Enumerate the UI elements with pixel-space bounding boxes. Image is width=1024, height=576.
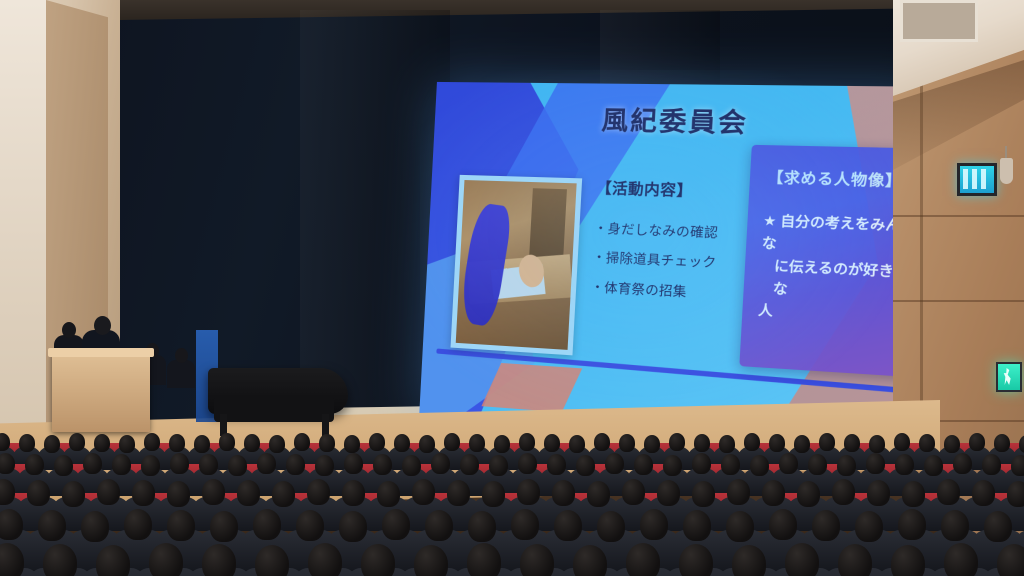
audience-member-head <box>469 434 485 452</box>
seated-person <box>167 360 195 388</box>
audience-member-head <box>419 435 435 453</box>
audience-member-head <box>219 433 235 451</box>
audience-member-head <box>969 433 985 451</box>
audience-member-head <box>467 543 501 576</box>
audience-member-head <box>369 433 385 451</box>
audience-member-head <box>919 434 935 452</box>
audience-member-head <box>812 510 840 541</box>
speaker-head <box>94 316 111 335</box>
persona-line: ★ 自分の考えをみんな <box>761 209 907 260</box>
audience-member-head <box>994 434 1010 452</box>
audience-member-head <box>832 479 855 505</box>
audience-member-head <box>594 433 610 451</box>
audience-member-head <box>482 481 505 507</box>
audience-member-head <box>576 455 595 476</box>
audience-member-head <box>808 454 827 475</box>
audience-member-head <box>141 455 160 476</box>
audience-member-head <box>444 433 460 451</box>
audience-member-head <box>319 434 335 452</box>
audience-member-head <box>0 453 15 474</box>
wall-seam <box>893 215 1024 217</box>
audience-member-head <box>19 434 35 452</box>
seated-person-head <box>175 348 188 363</box>
audience-member-head <box>794 435 810 453</box>
audience-member-head <box>869 435 885 453</box>
audience-member-head <box>447 480 470 506</box>
projection-screen: 風紀委員会 【活動内容】 ・身だしなみの確認 ・掃除道具チェック ・体育祭の招集… <box>419 82 939 457</box>
audience-member-head <box>797 481 820 507</box>
exit-sign-glyph <box>963 169 968 189</box>
audience-member-head <box>721 454 740 475</box>
slide-photo-frame <box>451 175 583 356</box>
audience-member-head <box>315 455 334 476</box>
audience-member-head <box>44 435 60 453</box>
audience-member-head <box>169 434 185 452</box>
exit-sign-glyph <box>972 169 977 189</box>
audience-member-head <box>573 545 607 576</box>
audience-member-head <box>0 509 23 540</box>
audience-member-head <box>953 453 972 474</box>
audience-member-head <box>844 434 860 452</box>
audience-member-head <box>344 435 360 453</box>
audience-member-head <box>838 544 872 576</box>
audience-member-head <box>867 480 890 506</box>
audience-member-head <box>982 454 1001 475</box>
audience-member-head <box>494 435 510 453</box>
audience-member-head <box>202 544 236 576</box>
audience-member-head <box>944 543 978 576</box>
audience-member-head <box>344 453 363 474</box>
audience-member-head <box>762 480 785 506</box>
audience-member-head <box>683 510 711 541</box>
wall-seam <box>893 300 1024 302</box>
audience-member-head <box>819 433 835 451</box>
audience-member-head <box>342 480 365 506</box>
audience-member-head <box>414 545 448 576</box>
audience-member-head <box>663 455 682 476</box>
audience-member-head <box>554 510 582 541</box>
audience-member-head <box>769 509 797 540</box>
audience-member-head <box>511 509 539 540</box>
audience-member-head <box>552 480 575 506</box>
audience-member-head <box>38 510 66 541</box>
audience-member-head <box>984 511 1012 542</box>
audience-member-head <box>924 455 943 476</box>
audience-member-head <box>866 453 885 474</box>
audience-member-head <box>83 453 102 474</box>
audience-member-head <box>837 455 856 476</box>
audience-member-head <box>489 455 508 476</box>
grand-piano-body <box>214 396 334 422</box>
audience-member-head <box>119 435 135 453</box>
audience-member-head <box>518 453 537 474</box>
activity-heading: 【活動内容】 <box>596 177 740 203</box>
audience-member-head <box>307 479 330 505</box>
audience-member-head <box>132 480 155 506</box>
audience-member-head <box>941 510 969 541</box>
seated-person-head <box>62 322 76 338</box>
audience-member-head <box>634 454 653 475</box>
left-wall-trim <box>0 0 46 430</box>
audience-member-head <box>669 433 685 451</box>
audience-member-head <box>732 545 766 576</box>
audience-member-head <box>425 510 453 541</box>
audience-member-head <box>373 454 392 475</box>
audience-member-head <box>657 480 680 506</box>
audience-member-head <box>43 544 77 576</box>
audience-member-head <box>294 433 310 451</box>
audience-member-head <box>679 544 713 576</box>
audience-member-head <box>199 454 218 475</box>
activity-bullet: ・掃除道具チェック <box>592 248 736 275</box>
audience-member-head <box>25 454 44 475</box>
audience-member-head <box>167 481 190 507</box>
audience-member-head <box>94 434 110 452</box>
audience-member-head <box>895 454 914 475</box>
auditorium-photo: 風紀委員会 【活動内容】 ・身だしなみの確認 ・掃除道具チェック ・体育祭の招集… <box>0 0 1024 576</box>
wall-window-frame <box>900 0 978 42</box>
audience-member-head <box>894 433 910 451</box>
audience-member-head <box>339 511 367 542</box>
audience-member-head <box>1007 481 1024 507</box>
audience-member-head <box>997 544 1024 576</box>
audience-member-head <box>210 511 238 542</box>
audience-member-head <box>468 511 496 542</box>
audience-member-head <box>517 479 540 505</box>
audience-member-head <box>97 479 120 505</box>
audience-member-head <box>972 480 995 506</box>
audience-member-head <box>377 481 400 507</box>
audience-member-head <box>644 435 660 453</box>
audience-member-head <box>361 544 395 576</box>
audience-member-head <box>785 543 819 576</box>
audience-member-head <box>626 543 660 576</box>
audience-member-head <box>112 454 131 475</box>
audience-member-head <box>167 510 195 541</box>
activity-bullet: ・身だしなみの確認 <box>594 219 738 245</box>
audience-member-head <box>431 453 450 474</box>
audience-member-head <box>81 511 109 542</box>
audience-member-head <box>308 543 342 576</box>
audience-member-head <box>727 479 750 505</box>
audience-member-head <box>726 511 754 542</box>
audience-member-head <box>272 481 295 507</box>
audience-member-head <box>144 433 160 451</box>
audience-member-head <box>750 455 769 476</box>
audience-member-head <box>255 545 289 576</box>
audience-member-head <box>640 509 668 540</box>
podium <box>52 352 150 432</box>
audience-member-head <box>269 435 285 453</box>
audience-member-head <box>62 481 85 507</box>
audience-member-head <box>202 479 225 505</box>
audience-member-head <box>547 454 566 475</box>
audience-member-head <box>460 454 479 475</box>
audience-member-head <box>228 455 247 476</box>
audience-member-head <box>937 479 960 505</box>
audience-member-head <box>382 509 410 540</box>
audience-member-head <box>605 453 624 474</box>
audience-member-head <box>569 435 585 453</box>
audience-member-head <box>544 434 560 452</box>
audience-member-head <box>597 511 625 542</box>
audience-member-head <box>779 453 798 474</box>
photo-chair <box>529 189 567 263</box>
audience-member-head <box>719 435 735 453</box>
audience-member-head <box>619 434 635 452</box>
audience-section <box>0 430 1024 576</box>
audience-member-head <box>170 453 189 474</box>
audience-member-head <box>692 481 715 507</box>
audience-member-head <box>244 434 260 452</box>
exit-sign-glyph <box>981 169 986 189</box>
audience-member-head <box>257 453 276 474</box>
audience-member-head <box>149 543 183 576</box>
audience-member-head <box>520 544 554 576</box>
audience-member-head <box>394 434 410 452</box>
slide-photo <box>456 180 577 350</box>
audience-member-head <box>27 480 50 506</box>
audience-member-head <box>855 511 883 542</box>
audience-member-head <box>286 454 305 475</box>
audience-member-head <box>96 545 130 576</box>
podium-top <box>48 348 154 357</box>
audience-member-head <box>519 433 535 451</box>
audience-member-head <box>237 480 260 506</box>
presentation-slide: 風紀委員会 【活動内容】 ・身だしなみの確認 ・掃除道具チェック ・体育祭の招集… <box>419 82 939 457</box>
audience-member-head <box>744 433 760 451</box>
wall-lamp-icon <box>1000 158 1013 184</box>
persona-body: ★ 自分の考えをみんな に伝えるのが好きな 人 <box>758 209 907 329</box>
audience-member-head <box>891 545 925 576</box>
activity-bullet: ・体育祭の招集 <box>590 278 734 305</box>
audience-member-head <box>898 509 926 540</box>
audience-member-head <box>402 455 421 476</box>
persona-line: に伝えるのが好きな <box>759 254 904 306</box>
audience-member-head <box>69 433 85 451</box>
audience-member-head <box>694 434 710 452</box>
audience-member-head <box>54 455 73 476</box>
audience-member-head <box>1011 455 1024 476</box>
activity-column: 【活動内容】 ・身だしなみの確認 ・掃除道具チェック ・体育祭の招集 <box>590 177 740 315</box>
audience-member-head <box>587 481 610 507</box>
audience-member-head <box>296 510 324 541</box>
audience-member-head <box>769 434 785 452</box>
audience-member-head <box>412 479 435 505</box>
audience-member-head <box>692 453 711 474</box>
audience-member-head <box>944 435 960 453</box>
audience-member-head <box>194 435 210 453</box>
audience-member-head <box>124 509 152 540</box>
audience-member-head <box>902 481 925 507</box>
audience-member-head <box>1019 435 1024 453</box>
audience-member-head <box>253 509 281 540</box>
audience-member-head <box>622 479 645 505</box>
